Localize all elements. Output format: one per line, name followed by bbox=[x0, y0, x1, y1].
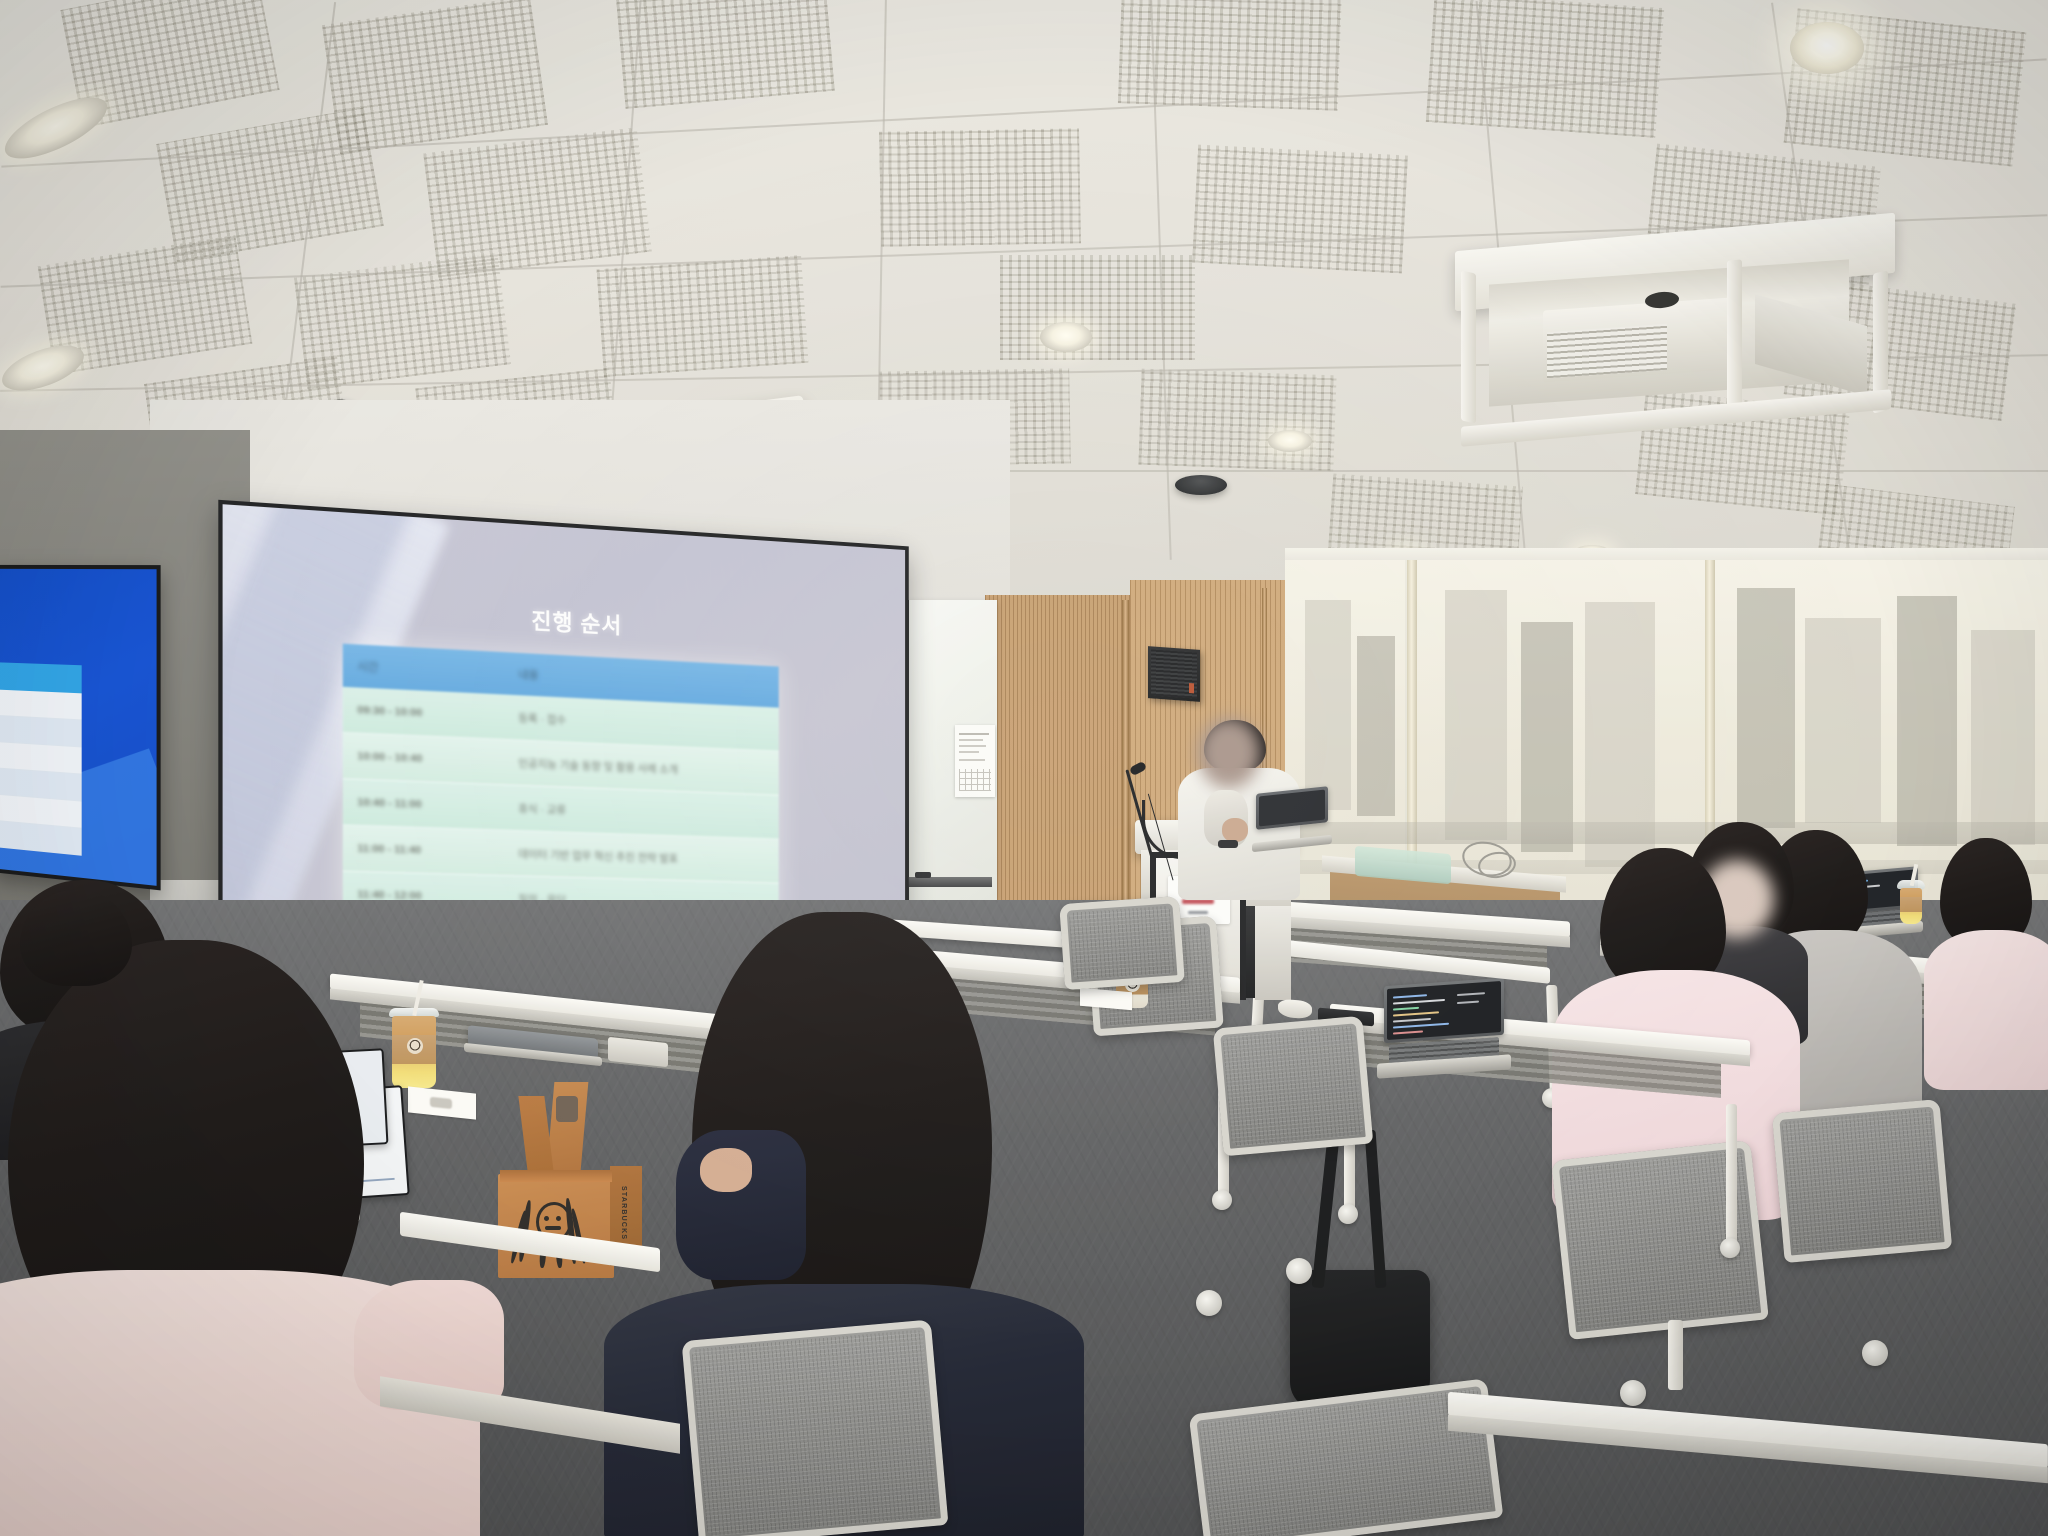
attendee-front-center-hand bbox=[700, 1148, 752, 1192]
chair-caster bbox=[1862, 1340, 1888, 1366]
ceiling-projector bbox=[1455, 232, 1895, 458]
blurred-face bbox=[1198, 718, 1260, 788]
posted-notice-sheet bbox=[955, 725, 995, 797]
starbucks-wordmark: STARBUCKS bbox=[620, 1186, 627, 1240]
attendee-front-left bbox=[0, 940, 430, 1536]
header-time: 시간 bbox=[343, 644, 511, 695]
agenda-time: 11:00 - 11:40 bbox=[343, 842, 511, 859]
agenda-desc: 휴식 · 교류 bbox=[510, 800, 778, 824]
marker-tray bbox=[908, 877, 992, 887]
attendee-far-back bbox=[14, 890, 144, 1010]
agenda-time: 10:40 - 11:00 bbox=[343, 796, 511, 814]
agenda-desc: 데이터 기반 업무 혁신 추진 전략 발표 bbox=[510, 845, 778, 868]
attendee-far-right bbox=[1930, 838, 2048, 1078]
chair-caster bbox=[1620, 1380, 1646, 1406]
downlight-icon bbox=[1268, 430, 1312, 452]
desk-caster bbox=[1338, 1204, 1358, 1224]
seminar-room-photo: 진행 순서 시간 내용 09:30 - 10:00 등록 · 접수 10:00 … bbox=[0, 0, 2048, 1536]
side-display-table bbox=[0, 661, 82, 856]
chair-caster bbox=[1286, 1258, 1312, 1284]
agenda-table: 시간 내용 09:30 - 10:00 등록 · 접수 10:00 - 10:4… bbox=[343, 644, 779, 923]
chair[interactable] bbox=[1213, 1016, 1374, 1157]
agenda-time: 10:00 - 10:40 bbox=[343, 749, 511, 768]
chair[interactable] bbox=[681, 1319, 948, 1536]
desk-caster bbox=[1720, 1238, 1740, 1258]
laptop[interactable] bbox=[1384, 978, 1504, 1078]
agenda-desc: 인공지능 기술 동향 및 활용 사례 소개 bbox=[510, 755, 778, 781]
downlight-icon bbox=[1790, 22, 1864, 74]
chair-caster bbox=[1196, 1290, 1222, 1316]
side-display bbox=[0, 565, 161, 890]
presenter-hand bbox=[1222, 818, 1248, 842]
chair[interactable] bbox=[1772, 1099, 1952, 1263]
side-display-slide bbox=[0, 569, 157, 886]
desk-leg bbox=[1726, 1104, 1737, 1244]
desk-caster bbox=[1212, 1190, 1232, 1210]
downlight-icon bbox=[1040, 322, 1092, 352]
laptop[interactable] bbox=[1256, 786, 1328, 852]
whiteboard-marker[interactable] bbox=[915, 872, 931, 878]
chair-post bbox=[1668, 1320, 1683, 1390]
agenda-desc: 등록 · 접수 bbox=[510, 709, 778, 736]
smoke-detector-icon bbox=[1175, 475, 1227, 495]
chair[interactable] bbox=[1059, 896, 1185, 990]
wall-speaker bbox=[1148, 646, 1200, 702]
agenda-time: 09:30 - 10:00 bbox=[343, 703, 511, 723]
wristwatch bbox=[1218, 840, 1238, 848]
